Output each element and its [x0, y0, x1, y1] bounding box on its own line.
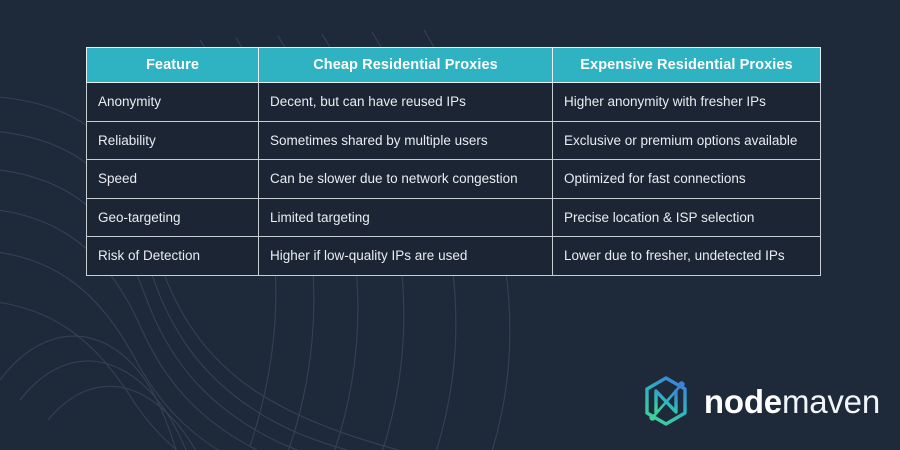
cell-feature: Risk of Detection	[87, 237, 259, 276]
cell-expensive: Exclusive or premium options available	[553, 121, 821, 160]
cell-expensive: Lower due to fresher, undetected IPs	[553, 237, 821, 276]
cell-cheap: Can be slower due to network congestion	[259, 160, 553, 199]
cell-cheap: Decent, but can have reused IPs	[259, 83, 553, 122]
cell-feature: Anonymity	[87, 83, 259, 122]
cell-cheap: Sometimes shared by multiple users	[259, 121, 553, 160]
logo-word-maven: maven	[782, 385, 880, 418]
cell-feature: Speed	[87, 160, 259, 199]
table-row: Geo-targeting Limited targeting Precise …	[87, 198, 821, 237]
cell-expensive: Optimized for fast connections	[553, 160, 821, 199]
table-row: Reliability Sometimes shared by multiple…	[87, 121, 821, 160]
cell-expensive: Precise location & ISP selection	[553, 198, 821, 237]
cell-cheap: Higher if low-quality IPs are used	[259, 237, 553, 276]
cell-feature: Reliability	[87, 121, 259, 160]
brand-logo: node maven	[640, 374, 880, 428]
table-row: Risk of Detection Higher if low-quality …	[87, 237, 821, 276]
cell-feature: Geo-targeting	[87, 198, 259, 237]
cell-cheap: Limited targeting	[259, 198, 553, 237]
table-header: Feature Cheap Residential Proxies Expens…	[87, 48, 821, 83]
column-header-expensive: Expensive Residential Proxies	[553, 48, 821, 83]
logo-wordmark: node maven	[704, 385, 880, 418]
column-header-feature: Feature	[87, 48, 259, 83]
logo-word-node: node	[704, 385, 782, 418]
column-header-cheap: Cheap Residential Proxies	[259, 48, 553, 83]
nodemaven-hexagon-n-icon	[640, 374, 692, 428]
table-row: Anonymity Decent, but can have reused IP…	[87, 83, 821, 122]
proxy-comparison-table: Feature Cheap Residential Proxies Expens…	[86, 47, 821, 276]
table-header-row: Feature Cheap Residential Proxies Expens…	[87, 48, 821, 83]
table-body: Anonymity Decent, but can have reused IP…	[87, 83, 821, 276]
table-row: Speed Can be slower due to network conge…	[87, 160, 821, 199]
cell-expensive: Higher anonymity with fresher IPs	[553, 83, 821, 122]
